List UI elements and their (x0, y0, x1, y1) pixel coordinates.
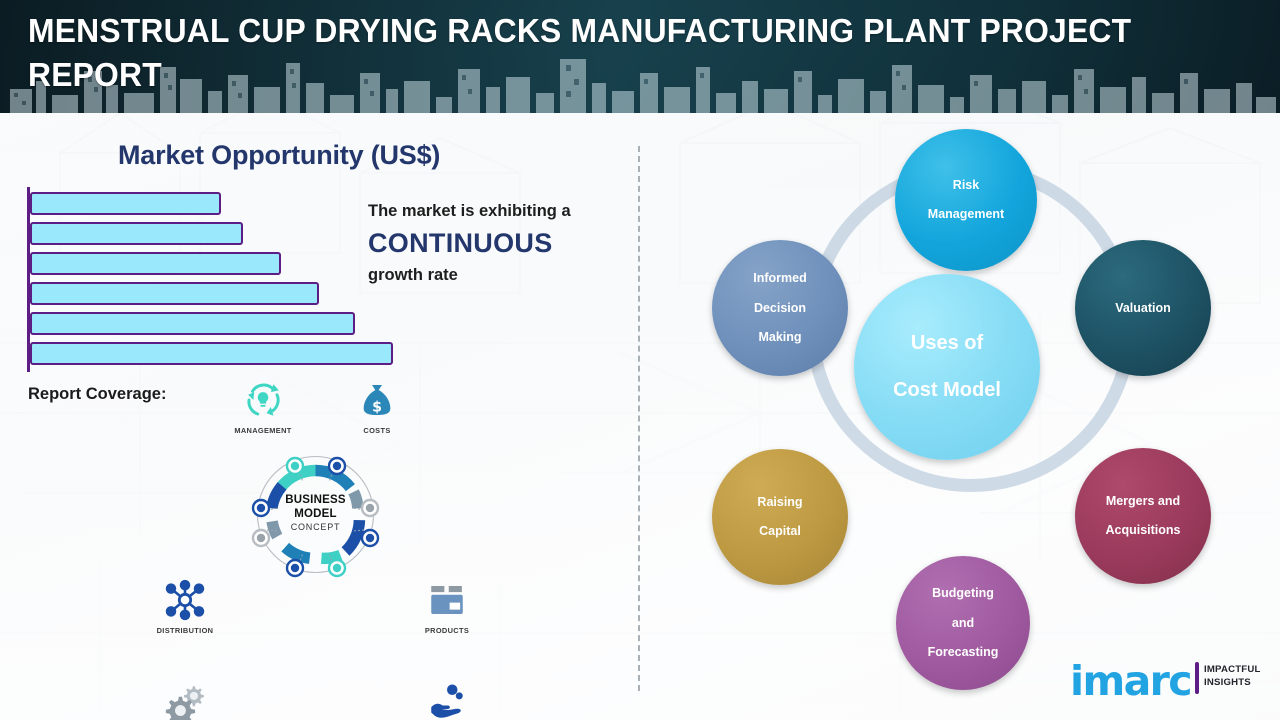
node-informed-decision-making[interactable]: Informed Decision Making (712, 240, 848, 376)
node-valuation[interactable]: Valuation (1075, 240, 1211, 376)
report-slide: MENSTRUAL CUP DRYING RACKS MANUFACTURING… (0, 0, 1280, 720)
node-valuation-label: Valuation (1109, 301, 1177, 316)
node-raising-capital[interactable]: Raising Capital (712, 449, 848, 585)
bar-row (30, 222, 243, 245)
imarc-wordmark: imarc (1070, 657, 1191, 705)
growth-statement: The market is exhibiting a CONTINUOUS gr… (368, 200, 638, 286)
bmc-line-3: CONCEPT (247, 521, 384, 535)
bar-row (30, 192, 221, 215)
bar-row (30, 252, 281, 275)
bar-row (30, 342, 393, 365)
node-uses-of-cost-model: Uses of Cost Model (854, 274, 1040, 460)
node-informed-line2: Decision (747, 301, 812, 316)
recycle-bulb-icon (211, 371, 315, 421)
center-line2: Cost Model (887, 379, 1007, 403)
business-model-center-text: BUSINESS MODEL CONCEPT (247, 494, 384, 535)
node-risk-management[interactable]: Risk Management (895, 129, 1037, 271)
coverage-item-products: PRODUCTS (395, 571, 499, 635)
node-mergers-line1: Mergers and (1099, 494, 1186, 509)
coverage-item-revenue: REVENUE (395, 673, 499, 720)
logo-tagline-line1: IMPACTFUL (1204, 663, 1261, 676)
money-bag-icon: $ (325, 371, 429, 421)
report-coverage-label: Report Coverage: (28, 385, 166, 404)
coverage-item-distribution: DISTRIBUTION (133, 571, 237, 635)
growth-line-3: growth rate (368, 264, 638, 286)
node-informed-line1: Informed (747, 271, 812, 286)
node-informed-line3: Making (747, 330, 812, 345)
logo-tagline-line2: INSIGHTS (1204, 676, 1261, 689)
logo-tagline: IMPACTFUL INSIGHTS (1204, 663, 1261, 689)
growth-line-2: CONTINUOUS (368, 222, 638, 264)
coverage-label-distribution: DISTRIBUTION (133, 626, 237, 635)
coverage-label-costs: COSTS (325, 426, 429, 435)
growth-line-1: The market is exhibiting a (368, 200, 638, 222)
node-budgeting-line1: Budgeting (922, 586, 1005, 601)
hand-coins-icon (395, 673, 499, 720)
coverage-label-products: PRODUCTS (395, 626, 499, 635)
node-budgeting-line3: Forecasting (922, 645, 1005, 660)
bmc-line-2: MODEL (247, 508, 384, 522)
center-line1: Uses of (887, 332, 1007, 356)
gears-icon (133, 673, 237, 720)
logo-divider (1195, 662, 1199, 694)
header-banner: MENSTRUAL CUP DRYING RACKS MANUFACTURING… (0, 0, 1280, 113)
node-mergers-line2: Acquisitions (1099, 523, 1186, 538)
network-nodes-icon (133, 571, 237, 621)
market-opportunity-title: Market Opportunity (US$) (118, 140, 440, 171)
bmc-line-1: BUSINESS (247, 494, 384, 508)
market-opportunity-bar-chart (27, 187, 407, 372)
node-risk-management-line1: Risk (922, 178, 1010, 193)
node-budgeting-line2: and (922, 616, 1005, 631)
left-panel: Market Opportunity (US$) The market is e… (0, 113, 638, 720)
node-raising-line1: Raising (751, 495, 808, 510)
node-budgeting-forecasting[interactable]: Budgeting and Forecasting (896, 556, 1030, 690)
panel-divider (638, 146, 640, 691)
bar-row (30, 312, 355, 335)
bar-row (30, 282, 319, 305)
imarc-logo: imarc IMPACTFUL INSIGHTS (1070, 643, 1275, 705)
svg-text:$: $ (372, 400, 382, 416)
node-raising-line2: Capital (751, 524, 808, 539)
boxes-icon (395, 571, 499, 621)
coverage-label-management: MANAGEMENT (211, 426, 315, 435)
coverage-item-services: SERVICES (133, 673, 237, 720)
page-title: MENSTRUAL CUP DRYING RACKS MANUFACTURING… (28, 9, 1210, 97)
node-mergers-acquisitions[interactable]: Mergers and Acquisitions (1075, 448, 1211, 584)
right-panel: Risk Management Valuation Mergers and Ac… (638, 113, 1280, 720)
coverage-item-management: MANAGEMENT (211, 371, 315, 435)
business-model-diagram: BUSINESS MODEL CONCEPT (247, 446, 384, 583)
coverage-item-costs: $ COSTS (325, 371, 429, 435)
node-risk-management-line2: Management (922, 207, 1010, 222)
